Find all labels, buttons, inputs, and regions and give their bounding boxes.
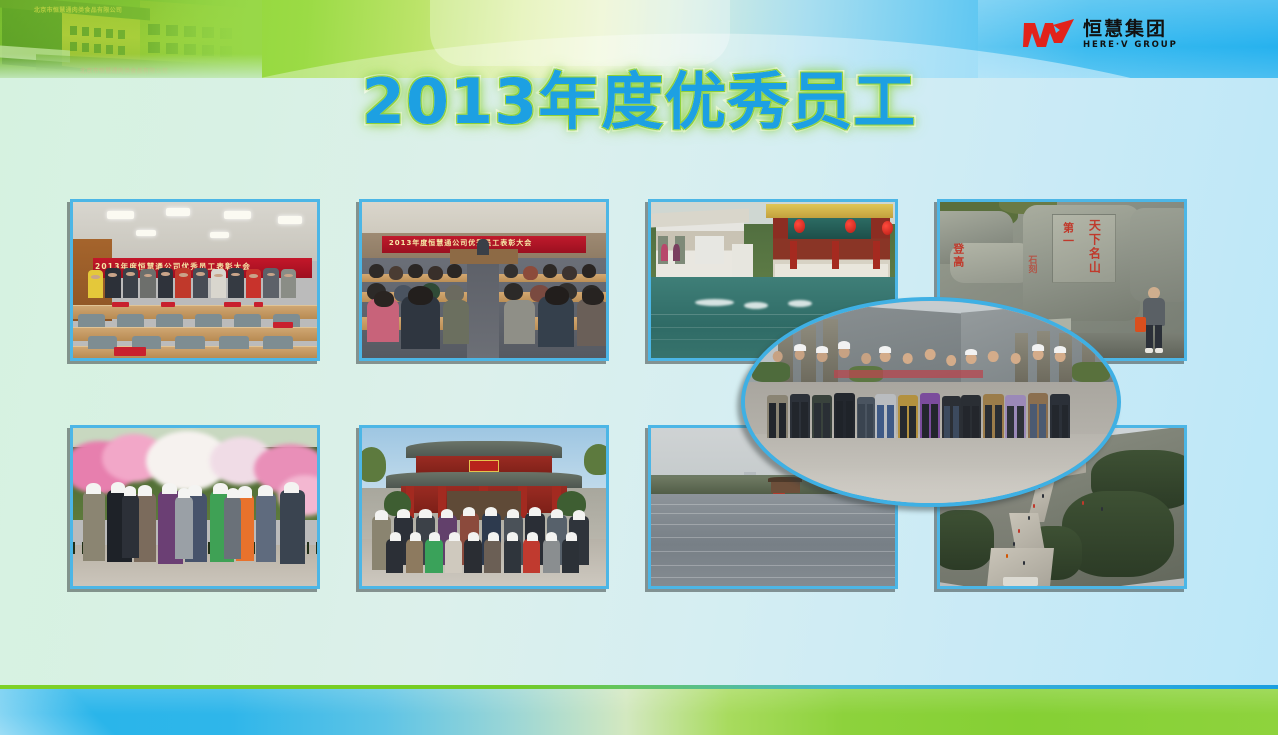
header-building-photo: 北京市恒慧通肉类食品有限公司 北京市恒慧通肉类食品有限公司 <box>0 0 262 78</box>
photo-group-plaza-oval <box>745 301 1117 503</box>
photo-caption: 2013年度恒慧通公司优秀员工表彰大会 <box>389 238 532 248</box>
list-item[interactable]: 2013年度恒慧通公司优秀员工表彰大会 <box>359 199 609 361</box>
photo-award-ceremony-stage: 2013年度恒慧通公司优秀员工表彰大会 <box>73 202 317 358</box>
hv-monogram-icon <box>1022 17 1076 53</box>
header-rounded-tab-shape <box>430 0 730 66</box>
page-title: 2013年度优秀员工 <box>0 68 1278 136</box>
list-item[interactable] <box>359 425 609 589</box>
logo-name-cn: 恒慧集团 <box>1083 20 1178 40</box>
list-item[interactable] <box>70 425 320 589</box>
footer-shine <box>0 689 1278 735</box>
logo-text-block: 恒慧集团 HERE·V GROUP <box>1083 20 1178 50</box>
list-item[interactable]: 2013年度恒慧通公司优秀员工表彰大会 <box>70 199 320 361</box>
photo-cherry-blossom-group <box>73 428 317 586</box>
page-title-text: 2013年度优秀员工 <box>362 68 917 136</box>
feature-photo-oval[interactable] <box>741 297 1121 507</box>
logo-name-en: HERE·V GROUP <box>1083 41 1178 50</box>
photo-award-ceremony-audience: 2013年度恒慧通公司优秀员工表彰大会 <box>362 202 606 358</box>
company-logo: 恒慧集团 HERE·V GROUP <box>1022 12 1190 58</box>
footer-corner-highlight <box>0 689 120 735</box>
slide-canvas: 北京市恒慧通肉类食品有限公司 北京市恒慧通肉类食品有限公司 恒慧集团 HERE·… <box>0 0 1278 735</box>
footer-band <box>0 689 1278 735</box>
photo-temple-gate-group <box>362 428 606 586</box>
